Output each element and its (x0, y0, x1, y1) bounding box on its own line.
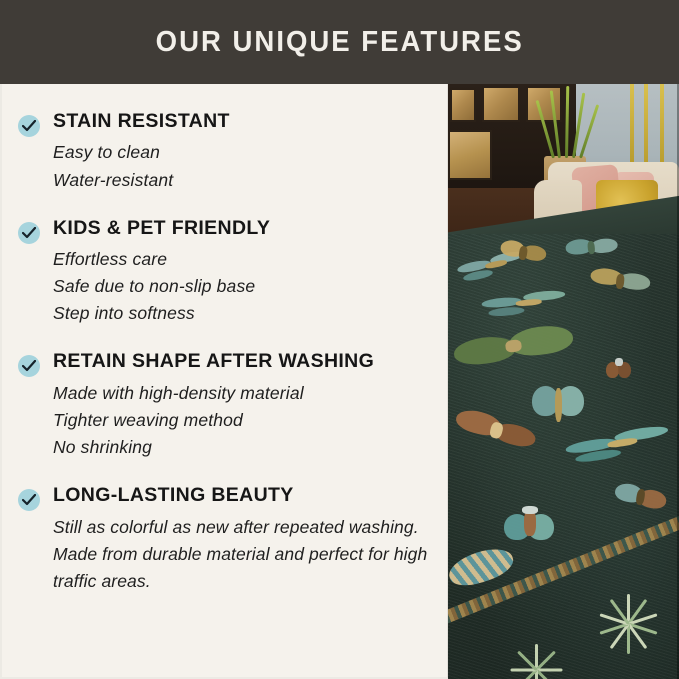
check-circle-icon (18, 115, 40, 137)
check-circle-icon (18, 222, 40, 244)
rug-motif-starburst (510, 644, 562, 679)
product-photo (448, 84, 679, 679)
feature-line: Water-resistant (53, 167, 433, 194)
feature-line: Tighter weaving method (53, 407, 433, 434)
feature-line: Made with high-density material (53, 380, 433, 407)
rug-motif-starburst (598, 594, 658, 654)
stone-panel (448, 130, 492, 180)
feature-item-retain-shape-after-washing: RETAIN SHAPE AFTER WASHING Made with hig… (18, 350, 433, 461)
rug-motif-beetle (604, 358, 634, 380)
header-bar: OUR UNIQUE FEATURES (0, 0, 679, 84)
page-title: OUR UNIQUE FEATURES (155, 26, 523, 59)
feature-text: KIDS & PET FRIENDLY Effortless care Safe… (53, 217, 433, 328)
feature-heading: STAIN RESISTANT (53, 110, 433, 132)
gold-rod (660, 84, 664, 166)
stone-panel (450, 88, 476, 122)
feature-line: Safe due to non-slip base (53, 273, 433, 300)
feature-heading: LONG-LASTING BEAUTY (53, 484, 433, 506)
content-row: STAIN RESISTANT Easy to clean Water-resi… (0, 84, 679, 679)
feature-line: Step into softness (53, 300, 433, 327)
feature-heading: KIDS & PET FRIENDLY (53, 217, 433, 239)
feature-item-kids-pet-friendly: KIDS & PET FRIENDLY Effortless care Safe… (18, 217, 433, 328)
feature-text: LONG-LASTING BEAUTY Still as colorful as… (53, 484, 433, 595)
feature-paragraph: Still as colorful as new after repeated … (53, 514, 428, 595)
feature-text: RETAIN SHAPE AFTER WASHING Made with hig… (53, 350, 433, 461)
feature-line: No shrinking (53, 434, 433, 461)
feature-item-stain-resistant: STAIN RESISTANT Easy to clean Water-resi… (18, 110, 433, 194)
area-rug (448, 234, 679, 679)
gold-rod (630, 84, 634, 162)
feature-infographic: OUR UNIQUE FEATURES STAIN RESISTANT Easy… (0, 0, 679, 679)
feature-line: Easy to clean (53, 139, 433, 166)
feature-item-long-lasting-beauty: LONG-LASTING BEAUTY Still as colorful as… (18, 484, 433, 595)
gold-rod (644, 84, 648, 168)
features-panel: STAIN RESISTANT Easy to clean Water-resi… (0, 84, 448, 679)
room-scene (448, 84, 679, 679)
check-circle-icon (18, 489, 40, 511)
feature-heading: RETAIN SHAPE AFTER WASHING (53, 350, 433, 372)
feature-text: STAIN RESISTANT Easy to clean Water-resi… (53, 110, 433, 194)
check-circle-icon (18, 355, 40, 377)
stone-panel (526, 86, 562, 122)
feature-line: Effortless care (53, 246, 433, 273)
rug-motif-butterfly (532, 386, 584, 428)
rug-motif-beetle (500, 506, 562, 544)
stone-panel (482, 86, 520, 122)
